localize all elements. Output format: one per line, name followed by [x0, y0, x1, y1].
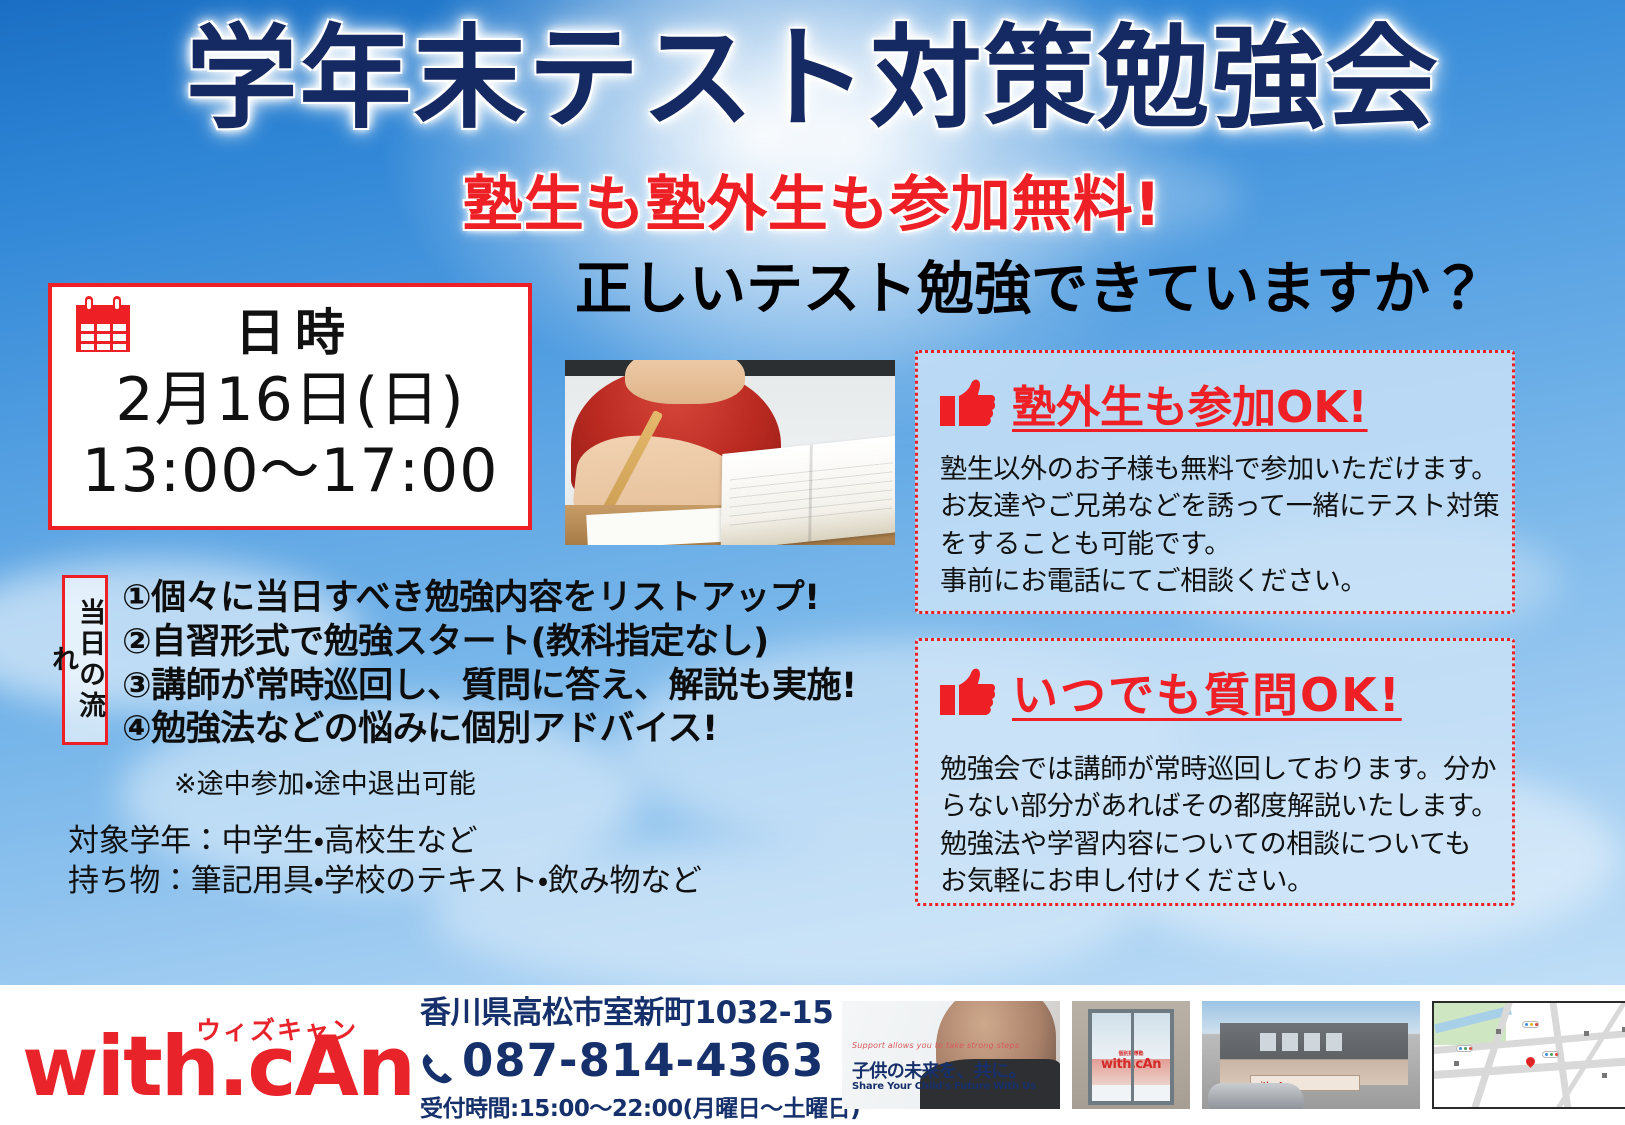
poster-subtitle: 塾生も塾外生も参加無料! [0, 172, 1625, 238]
info-box-outside-students: 塾外生も参加OK! 塾生以外のお子様も無料で参加いただけます。 お友達やご兄弟な… [915, 350, 1515, 614]
map-traffic-light [1542, 1051, 1559, 1058]
map-poi [1454, 1061, 1459, 1066]
map-poi [1584, 1031, 1589, 1036]
info-line: 事前にお電話にてご相談ください。 [940, 563, 1490, 600]
event-date: 2月16日(日) [52, 365, 528, 436]
phone-icon [420, 1044, 454, 1078]
photo-window [1282, 1033, 1298, 1051]
brand-logo: ウィズキャン with.cAn [0, 1003, 420, 1108]
map-poi [1602, 1073, 1607, 1078]
photo-student-head [625, 360, 745, 404]
thumbs-up-icon [940, 667, 996, 717]
event-time: 13:00〜17:00 [52, 436, 528, 507]
map-traffic-light [1456, 1045, 1473, 1052]
thumbs-up-icon [940, 378, 996, 428]
flow-row: 当日の流れ ①個々に当日すべき勉強内容をリストアップ! ②自習形式で勉強スタート… [62, 575, 902, 752]
brand-logo-kana: ウィズキャン [196, 1011, 358, 1047]
photo-book-text-lines [729, 462, 893, 527]
brand-image-photo: Support allows you to take strong steps … [842, 1001, 1060, 1109]
poster-root: 学年末テスト対策勉強会 塾生も塾外生も参加無料! 正しいテスト勉強できていますか… [0, 0, 1625, 1125]
photo-entrance-door: 個別指導塾 with.cAn [1088, 1009, 1174, 1105]
info-line: 勉強法や学習内容についての相談についても [940, 826, 1490, 863]
info-box-header: 塾外生も参加OK! [940, 371, 1490, 435]
contact-address: 香川県高松市室新町1032-15 [420, 987, 830, 1032]
photo-open-book [721, 435, 895, 545]
schedule-flow-section: 当日の流れ ①個々に当日すべき勉強内容をリストアップ! ②自習形式で勉強スタート… [62, 575, 902, 902]
detail-bring-items: 持ち物：筆記用具・学校のテキスト・飲み物など [68, 861, 902, 901]
map-poi [1496, 1029, 1501, 1034]
date-box: 日時 2月16日(日) 13:00〜17:00 [48, 283, 532, 530]
info-box-body: 塾生以外のお子様も無料で参加いただけます。 お友達やご兄弟などを誘って一緒にテス… [940, 451, 1490, 600]
contact-phone-number: 087-814-4363 [462, 1034, 824, 1087]
poster-title: 学年末テスト対策勉強会 [0, 18, 1625, 141]
event-details: 対象学年：中学生・高校生など 持ち物：筆記用具・学校のテキスト・飲み物など [68, 821, 902, 902]
info-box-title: 塾外生も参加OK! [1012, 371, 1368, 435]
poster-question-headline: 正しいテスト勉強できていますか？ [575, 258, 1487, 321]
contact-phone[interactable]: 087-814-4363 [420, 1034, 830, 1087]
photo-japanese-caption: 子供の未来を、共に。 [852, 1057, 1026, 1083]
photo-door-sign-sub: 個別指導塾 [1092, 1050, 1170, 1057]
info-line: をすることも可能です。 [940, 526, 1490, 563]
date-box-header: 日時 [52, 287, 528, 365]
flow-item: ②自習形式で勉強スタート(教科指定なし) [122, 621, 857, 665]
info-line: らない部分があればその都度解説いたします。 [940, 788, 1490, 825]
detail-target-grades: 対象学年：中学生・高校生など [68, 821, 902, 861]
building-photo: with.cAn [1202, 1001, 1420, 1109]
photo-notebook [586, 507, 738, 545]
entrance-photo: 個別指導塾 with.cAn [1072, 1001, 1190, 1109]
student-studying-photo [565, 360, 895, 545]
photo-parked-car [1208, 1083, 1304, 1109]
flow-item: ①個々に当日すべき勉強内容をリストアップ! [122, 577, 857, 621]
photo-window [1260, 1033, 1276, 1051]
info-box-questions: いつでも質問OK! 勉強会では講師が常時巡回しております。分か らない部分があれ… [915, 638, 1515, 906]
date-box-label: 日時 [52, 293, 528, 365]
flow-items-list: ①個々に当日すべき勉強内容をリストアップ! ②自習形式で勉強スタート(教科指定な… [122, 575, 857, 752]
info-box-title: いつでも質問OK! [1012, 659, 1402, 725]
info-line: お気軽にお申し付けください。 [940, 863, 1490, 900]
map-traffic-light [1522, 1021, 1539, 1028]
photo-window [1326, 1033, 1342, 1051]
info-line: 塾生以外のお子様も無料で参加いただけます。 [940, 451, 1490, 488]
flow-vertical-label: 当日の流れ [62, 575, 108, 745]
location-map-photo [1432, 1001, 1625, 1109]
info-line: 勉強会では講師が常時巡回しております。分か [940, 751, 1490, 788]
flow-item: ③講師が常時巡回し、質問に答え、解説も実施! [122, 665, 857, 709]
photo-door-sign-text: with.cAn [1092, 1057, 1170, 1072]
photo-english-caption: Share Your Child's Future With Us [852, 1081, 1036, 1092]
flow-item: ④勉強法などの悩みに個別アドバイス! [122, 708, 857, 752]
footer-bar: ウィズキャン with.cAn 香川県高松市室新町1032-15 087-814… [0, 985, 1625, 1125]
photo-window [1304, 1033, 1320, 1051]
footer-photo-strip: Support allows you to take strong steps … [842, 1001, 1625, 1109]
info-line: お友達やご兄弟などを誘って一緒にテスト対策 [940, 488, 1490, 525]
flow-note: ※途中参加・途中退出可能 [174, 762, 902, 801]
info-box-header: いつでも質問OK! [940, 659, 1490, 725]
info-box-body: 勉強会では講師が常時巡回しております。分か らない部分があればその都度解説いたし… [940, 751, 1490, 900]
contact-hours: 受付時間:15:00〜22:00(月曜日〜土曜日) [420, 1089, 830, 1123]
photo-script-caption: Support allows you to take strong steps [852, 1041, 1019, 1050]
contact-info: 香川県高松市室新町1032-15 087-814-4363 受付時間:15:00… [420, 987, 830, 1123]
